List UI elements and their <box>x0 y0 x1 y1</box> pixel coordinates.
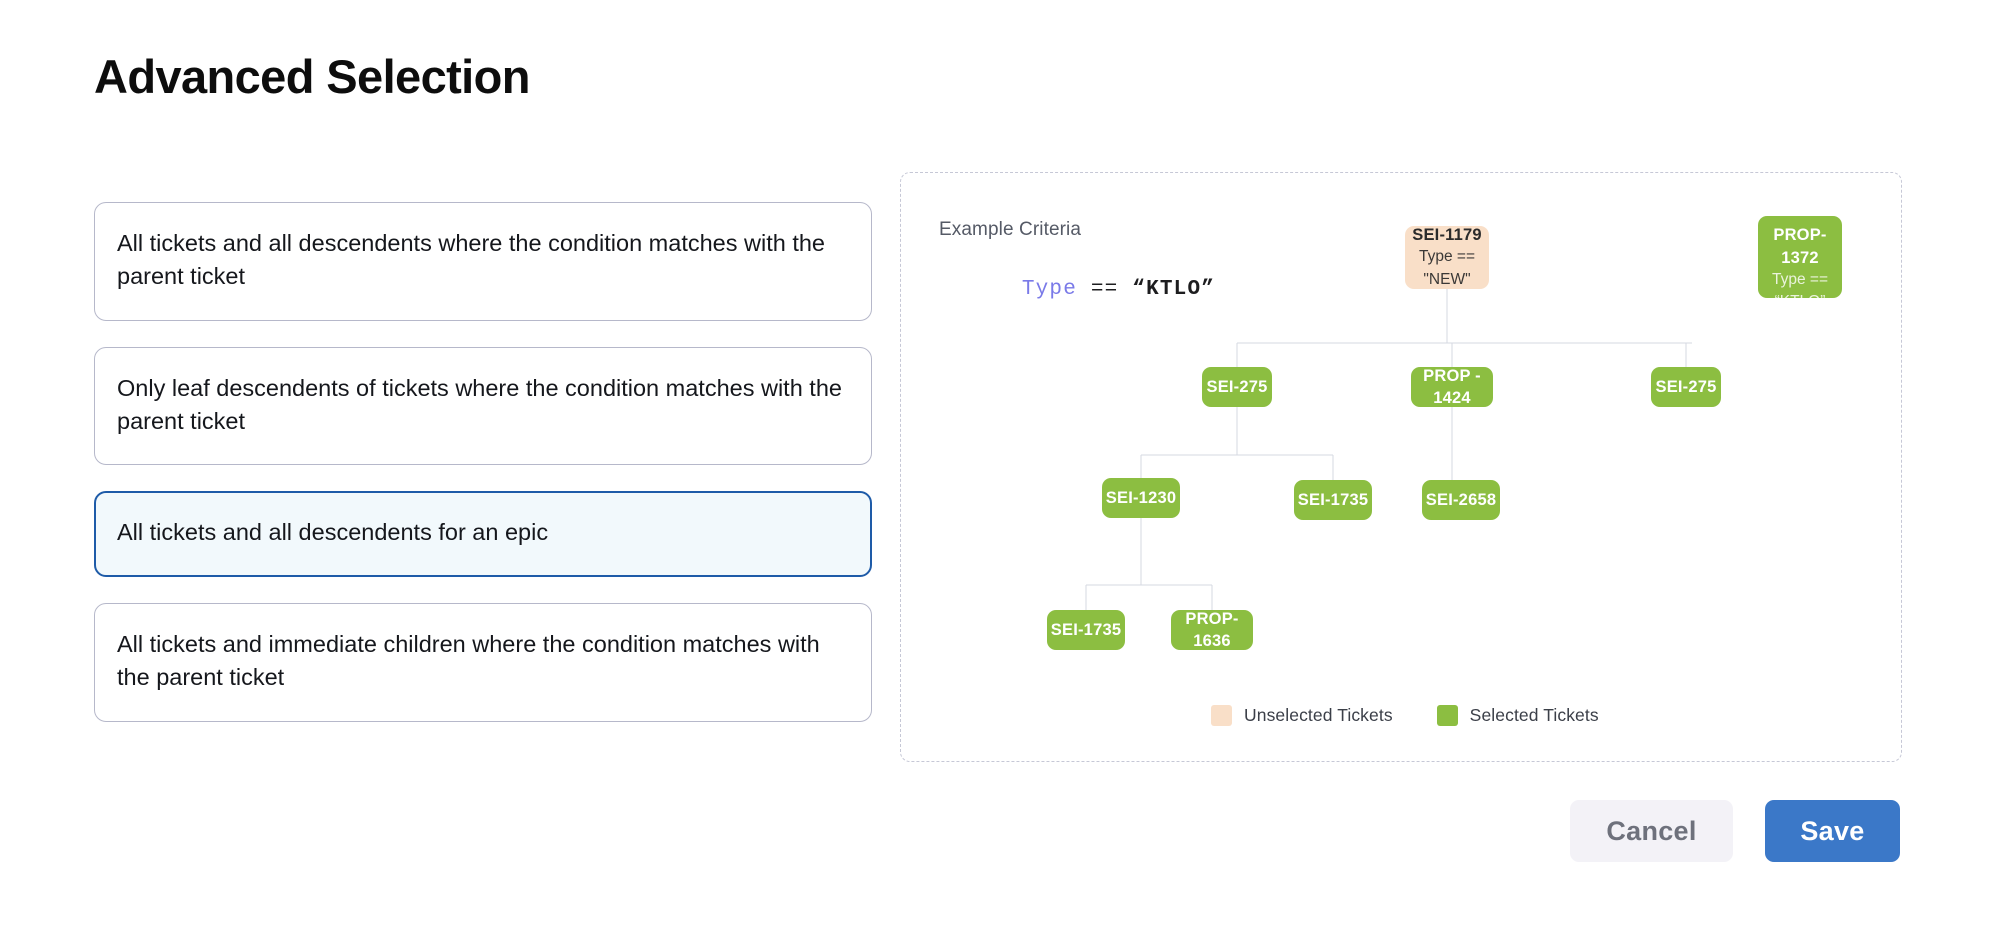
ticket-node-sei1735a[interactable]: SEI-1735 <box>1294 480 1372 520</box>
ticket-node-id: SEI-1735 <box>1051 619 1121 641</box>
legend-item: Unselected Tickets <box>1211 705 1393 726</box>
criteria-expression: Type == “KTLO” <box>939 255 1215 324</box>
selection-option-label: All tickets and all descendents for an e… <box>117 516 849 549</box>
criteria-value: “KTLO” <box>1132 278 1215 301</box>
ticket-node-prop1424[interactable]: PROP - 1424 <box>1411 367 1493 407</box>
selection-option-list: All tickets and all descendents where th… <box>94 202 872 748</box>
selection-option-immediate-children-condition[interactable]: All tickets and immediate children where… <box>94 603 872 722</box>
ticket-node-id: SEI-2658 <box>1426 489 1496 511</box>
example-diagram-panel: Example Criteria Type == “KTLO” <box>900 172 1902 762</box>
ticket-node-id: PROP-1636 <box>1171 608 1253 653</box>
ticket-node-sei1230[interactable]: SEI-1230 <box>1102 478 1180 518</box>
save-button[interactable]: Save <box>1765 800 1900 862</box>
criteria-operator: == <box>1091 278 1119 301</box>
advanced-selection-dialog: Advanced Selection All tickets and all d… <box>0 0 1994 936</box>
ticket-node-id: PROP-1372 <box>1758 224 1842 269</box>
ticket-node-sei275b[interactable]: SEI-275 <box>1651 367 1721 407</box>
page-title: Advanced Selection <box>94 51 530 103</box>
ticket-node-sei2658[interactable]: SEI-2658 <box>1422 480 1500 520</box>
cancel-button[interactable]: Cancel <box>1570 800 1733 862</box>
ticket-node-condition: Type == “KTLO” <box>1758 269 1842 314</box>
ticket-node-epic[interactable]: EPICPROP-1372Type == “KTLO” <box>1758 216 1842 298</box>
ticket-node-id: PROP - 1424 <box>1411 365 1493 410</box>
ticket-node-kind: EPIC <box>1780 200 1821 224</box>
legend-item: Selected Tickets <box>1437 705 1599 726</box>
selection-option-label: All tickets and immediate children where… <box>117 628 849 695</box>
legend-label: Unselected Tickets <box>1244 705 1393 726</box>
ticket-node-id: SEI-1230 <box>1106 487 1176 509</box>
legend-label: Selected Tickets <box>1470 705 1599 726</box>
legend-swatch-icon <box>1437 705 1458 726</box>
ticket-node-sei1735b[interactable]: SEI-1735 <box>1047 610 1125 650</box>
legend-swatch-icon <box>1211 705 1232 726</box>
ticket-node-id: SEI-1179 <box>1412 224 1482 246</box>
dialog-footer: Cancel Save <box>0 800 1994 862</box>
selection-option-all-descendents-epic[interactable]: All tickets and all descendents for an e… <box>94 491 872 576</box>
selection-option-label: Only leaf descendents of tickets where t… <box>117 372 849 439</box>
ticket-node-id: SEI-1735 <box>1298 489 1368 511</box>
selection-option-leaf-descendents-condition[interactable]: Only leaf descendents of tickets where t… <box>94 347 872 466</box>
criteria-label: Example Criteria <box>939 219 1081 241</box>
ticket-node-condition: Type == "NEW" <box>1405 246 1489 291</box>
selection-option-label: All tickets and all descendents where th… <box>117 227 849 294</box>
ticket-node-id: SEI-275 <box>1655 376 1716 398</box>
selection-option-all-descendents-condition[interactable]: All tickets and all descendents where th… <box>94 202 872 321</box>
diagram-legend: Unselected TicketsSelected Tickets <box>1211 705 1599 726</box>
criteria-field: Type <box>1022 278 1077 301</box>
ticket-node-root[interactable]: SEI-1179Type == "NEW" <box>1405 226 1489 289</box>
ticket-node-id: SEI-275 <box>1206 376 1267 398</box>
ticket-node-prop1636[interactable]: PROP-1636 <box>1171 610 1253 650</box>
ticket-node-sei275a[interactable]: SEI-275 <box>1202 367 1272 407</box>
